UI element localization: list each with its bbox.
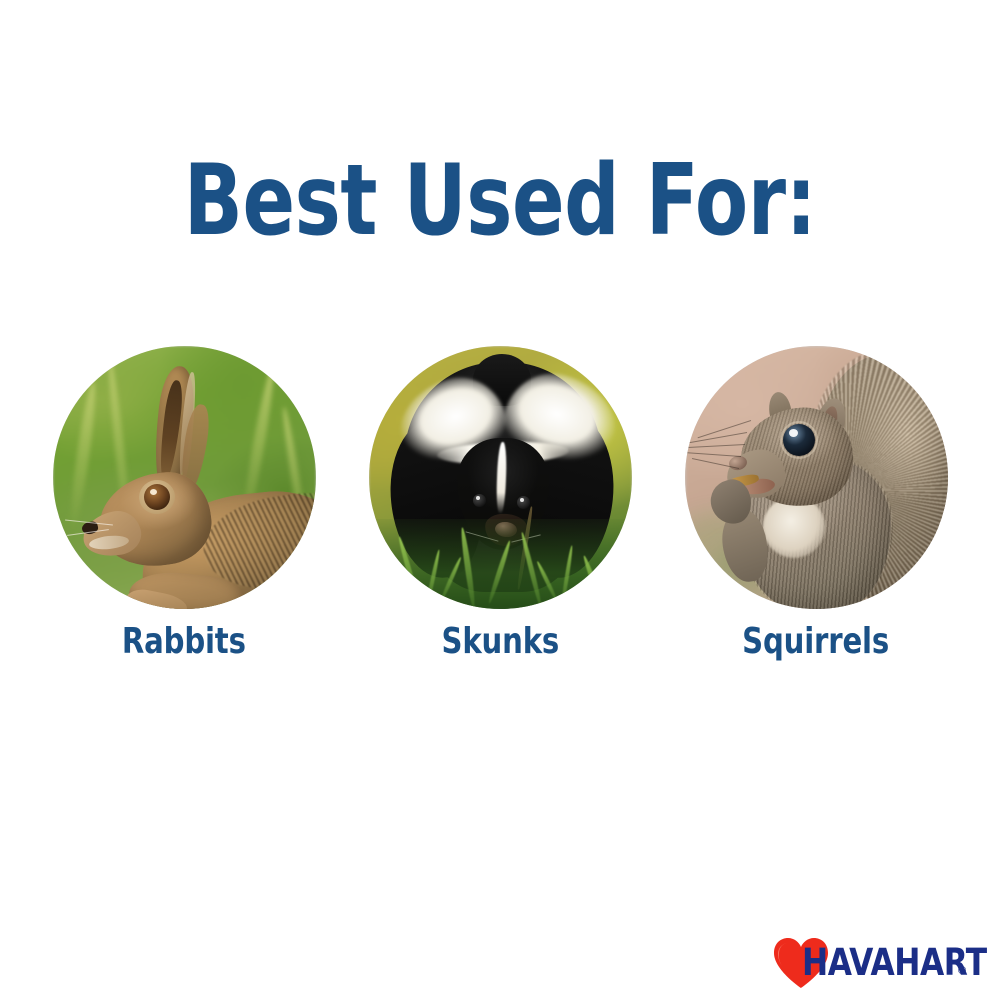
skunk-right-eye-highlight (520, 498, 524, 502)
rabbit-eye-highlight (150, 489, 157, 495)
skunk-photo (369, 346, 632, 609)
skunk-left-eye-highlight (476, 496, 480, 500)
registered-trademark-symbol: ® (958, 966, 966, 977)
squirrel-eye-highlight (789, 429, 798, 437)
animal-label-rabbits: Rabbits (122, 622, 246, 662)
animal-card-squirrels[interactable]: Squirrels (684, 346, 949, 662)
animal-label-squirrels: Squirrels (743, 622, 890, 662)
animal-card-skunks[interactable]: Skunks (368, 346, 633, 662)
best-used-for-panel: Best Used For: (0, 0, 1000, 1000)
rabbit-eye (144, 484, 170, 510)
animal-label-skunks: Skunks (441, 622, 559, 662)
page-title: Best Used For: (60, 152, 940, 250)
animal-card-rabbits[interactable]: Rabbits (52, 346, 317, 662)
squirrel-eye (783, 424, 815, 456)
havahart-logo[interactable]: HAVAHART ® (762, 930, 994, 992)
rabbit-photo (53, 346, 316, 609)
animal-card-row: Rabbits (0, 346, 1000, 662)
squirrel-photo (685, 346, 948, 609)
